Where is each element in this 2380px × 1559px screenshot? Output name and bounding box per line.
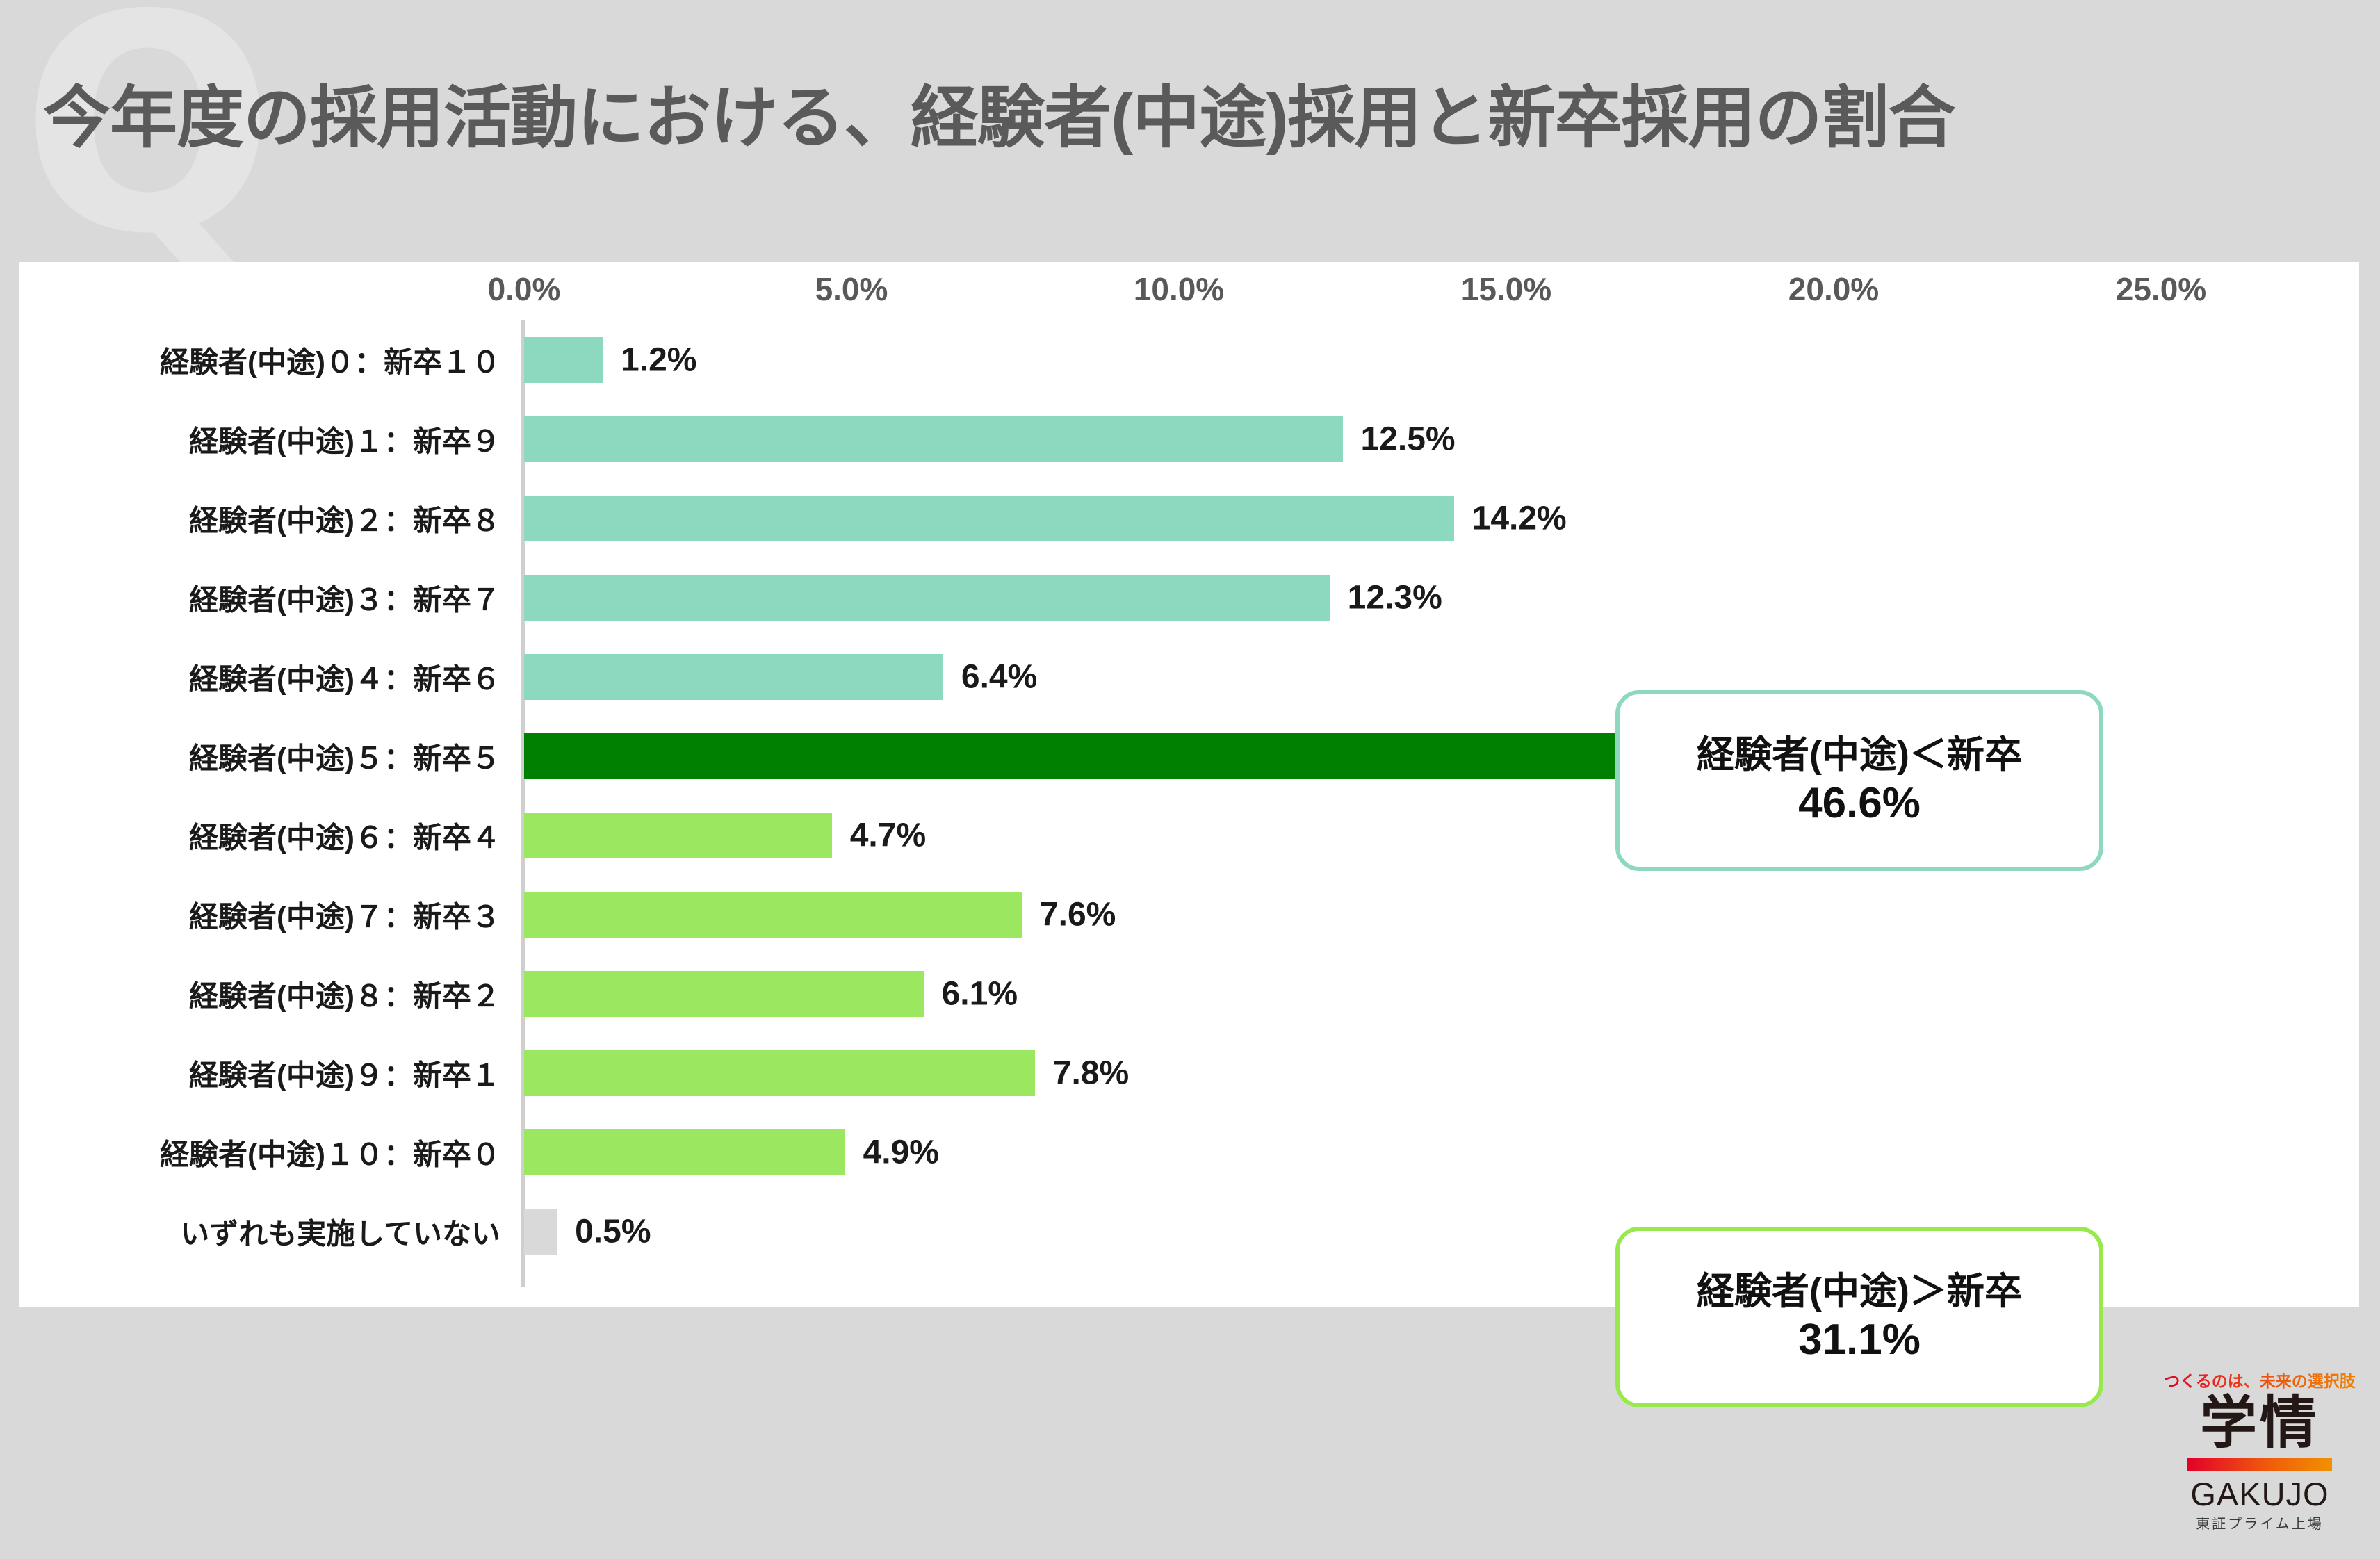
bar-row: 経験者(中途)３：新卒７12.3% <box>19 558 2359 637</box>
callout-chuto-majority: 経験者(中途)＞新卒 31.1% <box>1615 1227 2103 1407</box>
bar <box>524 971 924 1017</box>
category-label: 経験者(中途)４：新卒６ <box>189 656 500 699</box>
bar-value-label: 4.9% <box>863 1134 939 1172</box>
bar <box>524 496 1454 541</box>
bar <box>524 1050 1035 1096</box>
callout-lower-title: 経験者(中途)＞新卒 <box>1697 1268 2022 1314</box>
x-axis-tick-5: 25.0% <box>2116 270 2206 308</box>
x-axis-tick-3: 15.0% <box>1461 270 1551 308</box>
page-title: 今年度の採用活動における、経験者(中途)採用と新卒採用の割合 <box>43 76 1955 160</box>
bar-value-label: 6.1% <box>942 975 1018 1013</box>
logo-gradient-bar <box>2187 1458 2332 1471</box>
category-label: 経験者(中途)０：新卒１０ <box>160 339 500 382</box>
bar-value-label: 0.5% <box>575 1213 651 1251</box>
logo-subtitle: 東証プライム上場 <box>2196 1516 2324 1533</box>
category-label: 経験者(中途)１：新卒９ <box>189 418 500 461</box>
x-axis-tick-2: 10.0% <box>1134 270 1224 308</box>
bar <box>524 654 943 700</box>
callout-lower-value: 31.1% <box>1798 1314 1921 1366</box>
bar <box>524 813 832 858</box>
bar-row: 経験者(中途)１０：新卒０4.9% <box>19 1113 2359 1192</box>
category-label: 経験者(中途)７：新卒３ <box>189 894 500 936</box>
x-axis-tick-4: 20.0% <box>1788 270 1879 308</box>
page-header: Q 今年度の採用活動における、経験者(中途)採用と新卒採用の割合 <box>0 0 2380 262</box>
logo-romaji: GAKUJO <box>2190 1476 2329 1513</box>
bar-value-label: 4.7% <box>850 817 926 855</box>
category-label: 経験者(中途)９：新卒１ <box>189 1052 500 1095</box>
category-label: 経験者(中途)１０：新卒０ <box>160 1132 500 1174</box>
bar-value-label: 12.3% <box>1348 579 1442 617</box>
bar-value-label: 7.6% <box>1040 896 1116 934</box>
category-label: 経験者(中途)８：新卒２ <box>189 973 500 1015</box>
bar <box>524 575 1330 621</box>
logo-tagline: つくるのは、未来の選択肢 <box>2164 1371 2356 1391</box>
bar <box>524 416 1343 462</box>
x-axis-tick-labels: 0.0%5.0%10.0%15.0%20.0%25.0% <box>19 262 2359 311</box>
category-label: 経験者(中途)３：新卒７ <box>189 577 500 619</box>
bar-row: 経験者(中途)８：新卒２6.1% <box>19 954 2359 1034</box>
chart-panel: 0.0%5.0%10.0%15.0%20.0%25.0% 経験者(中途)０：新卒… <box>19 262 2359 1307</box>
bar-row: 経験者(中途)９：新卒１7.8% <box>19 1034 2359 1113</box>
category-label: 経験者(中途)５：新卒５ <box>189 735 500 778</box>
x-axis-tick-1: 5.0% <box>815 270 888 308</box>
category-label: いずれも実施していない <box>180 1211 500 1253</box>
gakujo-logo: つくるのは、未来の選択肢 学情 GAKUJO 東証プライム上場 <box>2159 1371 2361 1559</box>
bar <box>524 337 603 383</box>
bar-row: 経験者(中途)２：新卒８14.2% <box>19 479 2359 558</box>
bar-value-label: 14.2% <box>1472 500 1567 538</box>
category-label: 経験者(中途)２：新卒８ <box>189 498 500 540</box>
bar-row: 経験者(中途)０：新卒１０1.2% <box>19 320 2359 400</box>
bar-row: 経験者(中途)７：新卒３7.6% <box>19 875 2359 954</box>
bar <box>524 1129 845 1175</box>
bar-value-label: 1.2% <box>621 341 696 379</box>
callout-upper-value: 46.6% <box>1798 778 1921 829</box>
bar-row: 経験者(中途)１：新卒９12.5% <box>19 400 2359 479</box>
callout-upper-title: 経験者(中途)＜新卒 <box>1697 732 2022 778</box>
category-label: 経験者(中途)６：新卒４ <box>189 815 500 857</box>
logo-kanji: 学情 <box>2200 1392 2320 1455</box>
callout-shinsotsu-majority: 経験者(中途)＜新卒 46.6% <box>1615 690 2103 871</box>
bar-value-label: 12.5% <box>1361 421 1456 459</box>
bar <box>524 1209 557 1255</box>
bar <box>524 892 1022 938</box>
bar-value-label: 6.4% <box>961 658 1037 696</box>
x-axis-tick-0: 0.0% <box>488 270 561 308</box>
bar-value-label: 7.8% <box>1053 1054 1129 1093</box>
